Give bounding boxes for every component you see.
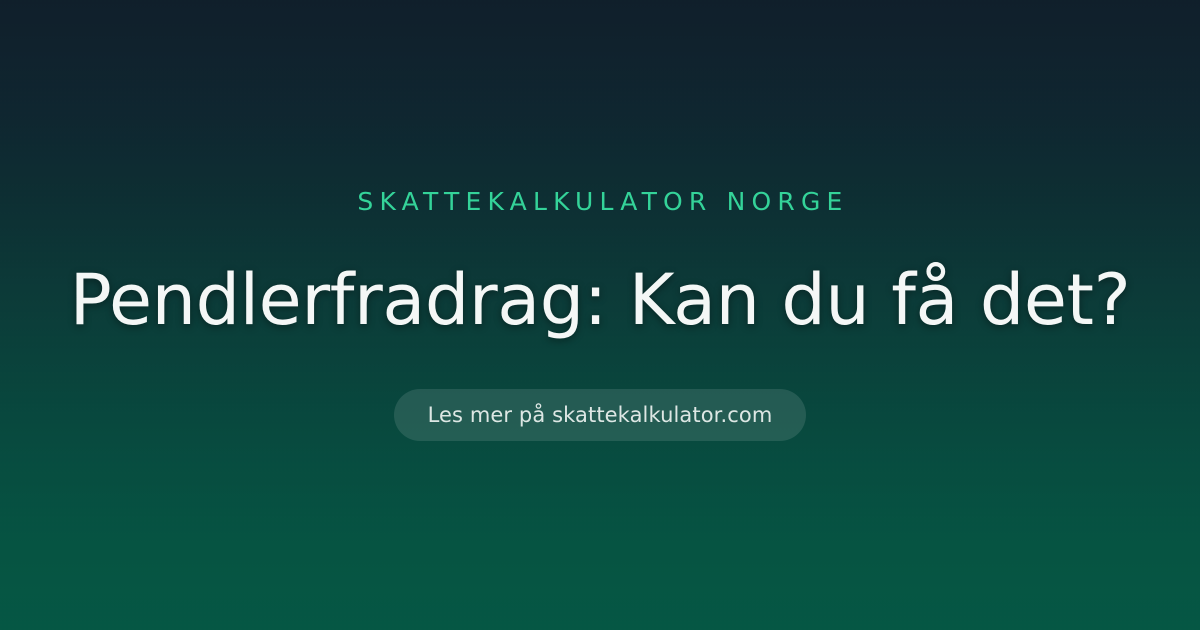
- page-title: Pendlerfradrag: Kan du få det?: [70, 262, 1131, 339]
- open-graph-card: SKATTEKALKULATOR NORGE Pendlerfradrag: K…: [0, 0, 1200, 630]
- eyebrow-site-name: SKATTEKALKULATOR NORGE: [351, 189, 848, 214]
- read-more-button[interactable]: Les mer på skattekalkulator.com: [394, 389, 807, 441]
- cta-container: Les mer på skattekalkulator.com: [394, 389, 807, 441]
- card-content: SKATTEKALKULATOR NORGE Pendlerfradrag: K…: [0, 189, 1200, 441]
